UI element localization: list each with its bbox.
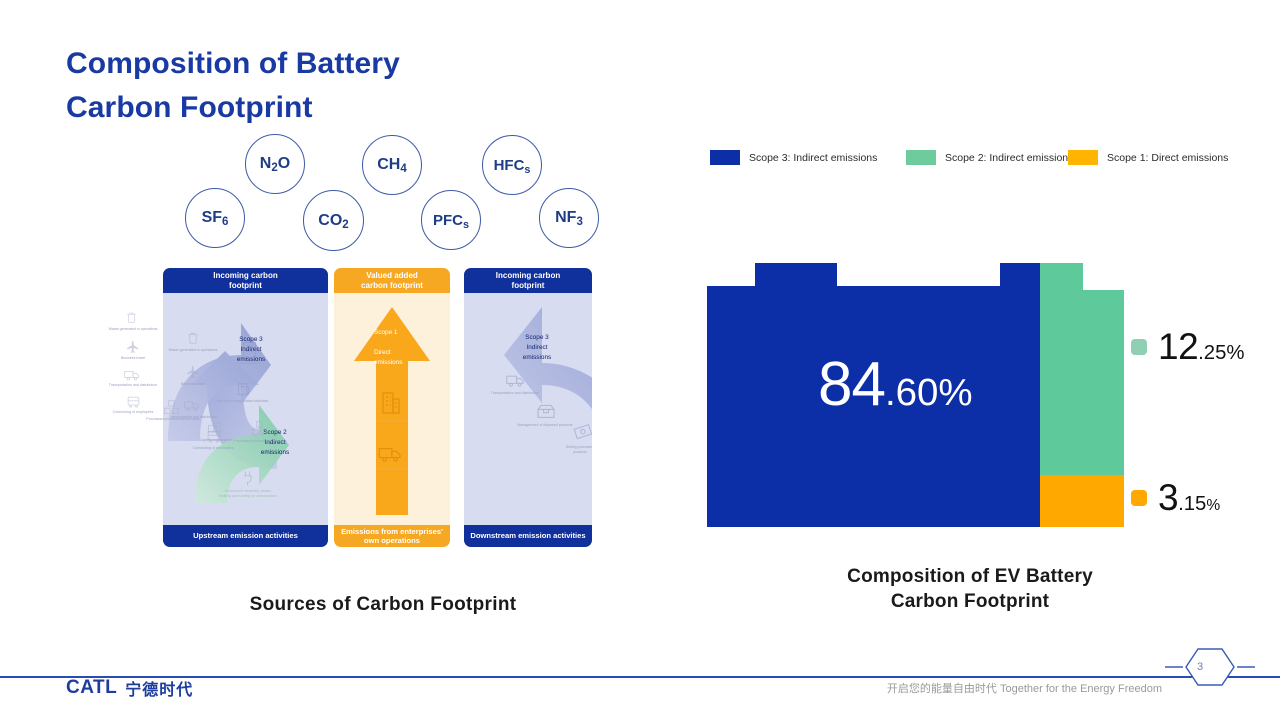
legend-swatch (710, 150, 740, 165)
vehicle-icon (378, 445, 404, 463)
scope2-value: 12.25% (1158, 326, 1245, 368)
upstream-item-0-label: Waste generated in operations (104, 327, 162, 332)
upstream-item-0: Waste generated in operations (164, 348, 222, 353)
footer-tagline: 开启您的能量自由时代 Together for the Energy Freed… (887, 680, 1162, 696)
bar-scope2 (1040, 263, 1124, 475)
gas-bubble-label: NF3 (555, 210, 583, 226)
gas-bubble-ch4: CH4 (362, 135, 422, 195)
upstream-item-7: Leasing assets (220, 361, 278, 366)
gas-bubble-n2o: N2O (245, 134, 305, 194)
downstream-scope3-label: Scope 3 Indirect emissions (506, 333, 568, 363)
upstream-item-3: Commuting of employees (184, 446, 242, 451)
upstream-item-1: Business travel (164, 382, 222, 387)
building-icon (241, 341, 258, 359)
downstream-item-0: Transportation and distribution (486, 391, 544, 396)
gas-bubble-pfcs: PFCs (421, 190, 481, 250)
legend-label: Scope 1: Direct emissions (1107, 152, 1228, 164)
truck-icon (124, 369, 141, 381)
panel-own-body: Scope 1 Direct emissions Enterprise faci… (334, 293, 450, 525)
downstream-item-2: Selling processed products (560, 445, 592, 454)
legend-swatch (906, 150, 936, 165)
gas-bubble-label: HFCs (494, 158, 531, 173)
open-box-icon (536, 403, 556, 419)
page-title: Composition of Battery Carbon Footprint (66, 42, 400, 131)
scope1-marker (1131, 490, 1147, 506)
gas-bubble-label: N2O (260, 156, 290, 172)
panel-own-operations: Valued added carbon footprint Scope 1 Di… (334, 268, 450, 547)
composition-chart: 84.60% (700, 250, 1140, 540)
downstream-arrow-graphic (464, 293, 592, 525)
catl-logo: CATL 宁德时代 (66, 676, 193, 700)
legend-item-1[interactable]: Scope 2: Indirect emissions (906, 150, 1073, 165)
scope1-value: 3.15% (1158, 477, 1220, 519)
own-item-1: Enterprise vehicles (363, 467, 421, 472)
scope3-value-frac: .60% (885, 371, 973, 414)
upstream-item-4-label: Purchased products and services (144, 417, 202, 422)
own-item-0: Enterprise facilities (363, 419, 421, 424)
catl-logo-latin: CATL (66, 677, 117, 699)
upstream-item-3-label: Commuting of employees (104, 410, 162, 415)
scope1-value-pct: % (1206, 497, 1219, 514)
upstream-item-2-label: Transportation and distribution (104, 383, 162, 388)
scope2-value-int: 12 (1158, 326, 1198, 367)
gas-bubble-label: CH4 (377, 157, 407, 173)
legend-item-2[interactable]: Scope 1: Direct emissions (1068, 150, 1228, 165)
boxes-icon (163, 400, 180, 415)
panel-downstream: Incoming carbon footprint Scope 3 Indire… (464, 268, 592, 547)
legend-label: Scope 3: Indirect emissions (749, 152, 877, 164)
trash-icon (186, 331, 200, 345)
gas-bubble-co2: CO2 (303, 190, 364, 251)
upstream-item-8: Outsourced electricity, steam, heating a… (219, 489, 277, 498)
airplane-icon (186, 365, 200, 379)
scope3-value: 84.60% (818, 349, 973, 420)
panel-downstream-body: Scope 3 Indirect emissions Transportatio… (464, 293, 592, 525)
downstream-item-1: Management of disposed products (516, 423, 574, 428)
panel-own-header: Valued added carbon footprint (334, 268, 450, 293)
upstream-item-6: Fuel and energy related activities (213, 399, 271, 404)
scope2-value-row: 12.25% (1131, 326, 1245, 368)
scope1-value-int: 3 (1158, 477, 1178, 518)
panel-upstream: Incoming carbon footprint Scope 3 Indire… (163, 268, 328, 547)
legend-label: Scope 2: Indirect emissions (945, 152, 1073, 164)
catl-logo-chinese: 宁德时代 (125, 676, 193, 700)
panel-downstream-footer: Downstream emission activities (464, 525, 592, 547)
legend-swatch (1068, 150, 1098, 165)
own-scope1-label: Scope 1 Direct emissions (374, 328, 430, 368)
upstream-item-5: Capital consumption (187, 438, 245, 443)
scope1-value-row: 3.15% (1131, 477, 1220, 519)
scope2-value-frac: .25% (1198, 342, 1244, 364)
plug-icon (241, 470, 254, 486)
gas-bubble-nf3: NF3 (539, 188, 599, 248)
capital-icon (207, 421, 223, 434)
scope3-value-int: 84 (818, 350, 885, 419)
trash-icon (125, 311, 138, 324)
upstream-item-1-label: Business travel (104, 356, 162, 361)
scope1-value-frac: .15 (1178, 493, 1206, 515)
gas-bubble-label: SF6 (202, 210, 229, 226)
truck-icon (506, 373, 526, 388)
slide: Composition of Battery Carbon Footprint … (0, 0, 1280, 720)
scope2-marker (1131, 339, 1147, 355)
caption-left: Sources of Carbon Footprint (163, 592, 603, 617)
fuel-icon (237, 381, 251, 396)
truck-icon (184, 399, 201, 412)
panel-upstream-footer: Upstream emission activities (163, 525, 328, 547)
legend-item-0[interactable]: Scope 3: Indirect emissions (710, 150, 877, 165)
page-number: 3 (1185, 656, 1215, 678)
airplane-icon (126, 340, 140, 354)
caption-right: Composition of EV Battery Carbon Footpri… (760, 564, 1180, 614)
panel-upstream-body: Scope 3 Indirect emissions Scope 2 Indir… (163, 293, 328, 525)
boxes-icon (251, 421, 268, 436)
bus-icon (126, 396, 141, 408)
panel-upstream-header: Incoming carbon footprint (163, 268, 328, 293)
gas-bubble-sf6: SF6 (185, 188, 245, 248)
bar-scope1 (1040, 475, 1124, 527)
gas-bubble-hfcs: HFCs (482, 135, 542, 195)
gas-bubble-label: PFCs (433, 213, 469, 228)
panel-downstream-header: Incoming carbon footprint (464, 268, 592, 293)
factory-icon (380, 391, 402, 415)
gas-bubble-label: CO2 (318, 213, 348, 229)
panel-own-footer: Emissions from enterprises' own operatio… (334, 525, 450, 547)
